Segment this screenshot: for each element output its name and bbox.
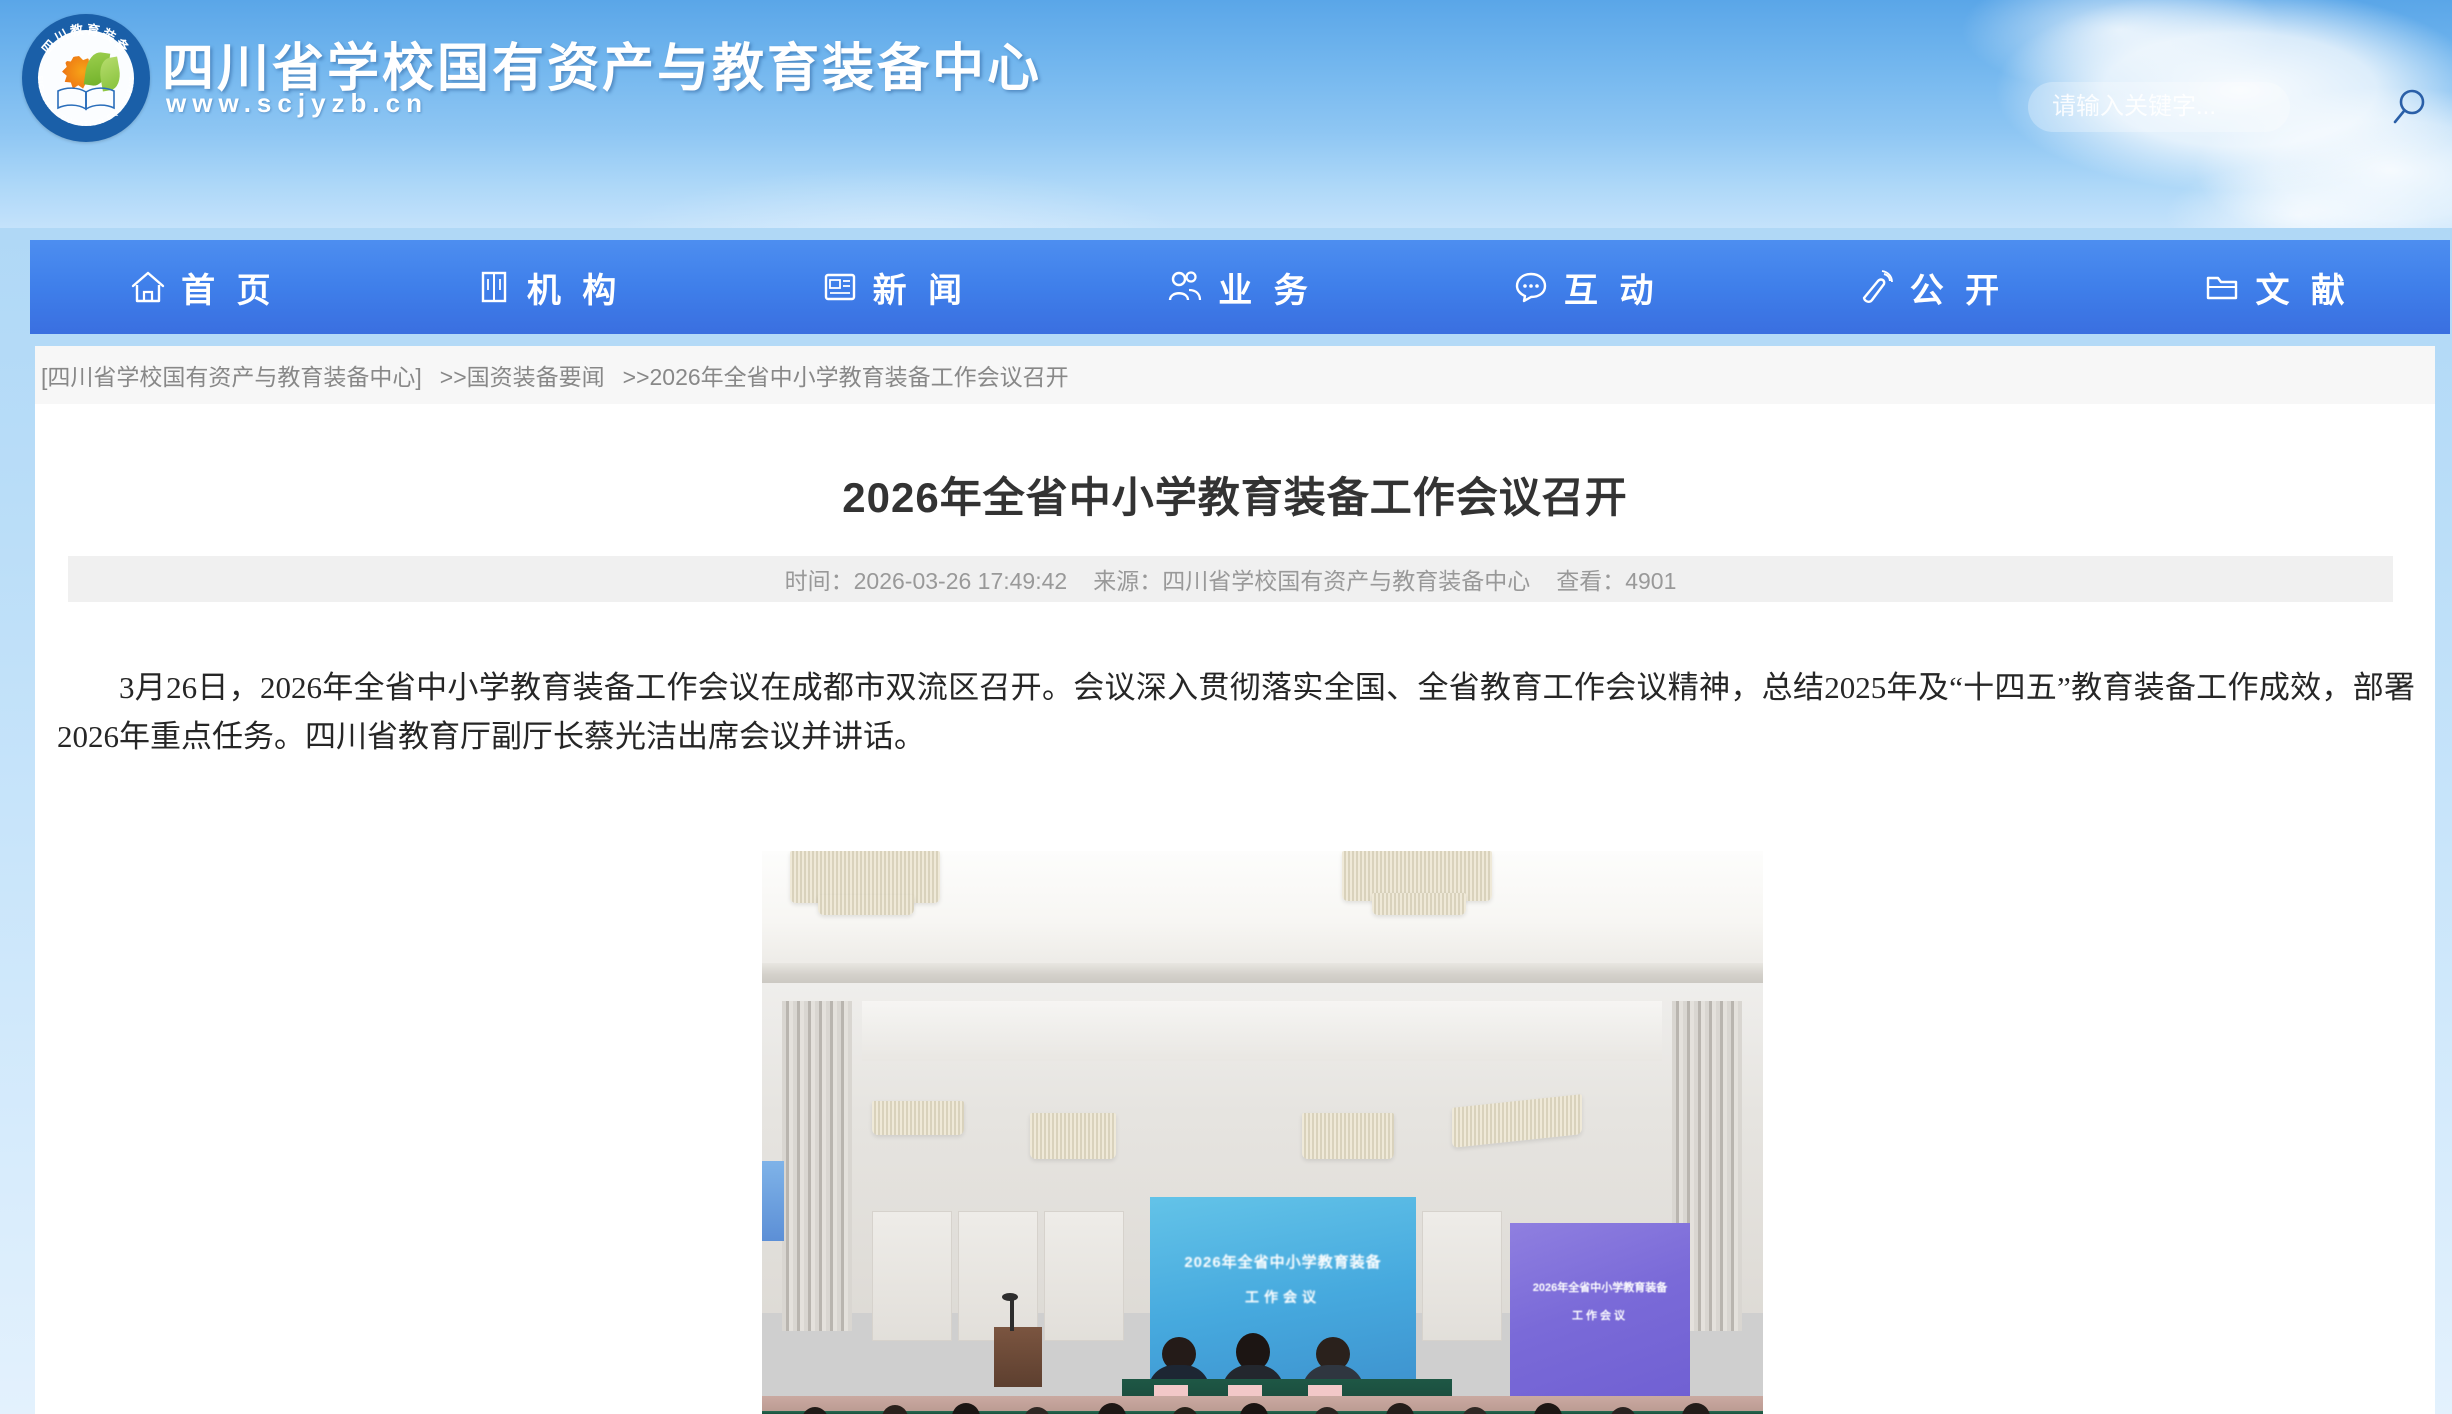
- meta-source-value: 四川省学校国有资产与教育装备中心: [1162, 568, 1530, 594]
- building-icon: [475, 268, 513, 306]
- logo-arc-text: 四川教育装备 SICHUAN EDUCATION EQUIPMENT: [22, 14, 150, 142]
- stage-banner-line1: 2026年全省中小学教育装备: [1514, 1279, 1686, 1295]
- stage-screen-line2: 工作会议: [1160, 1287, 1406, 1307]
- breadcrumb-section[interactable]: >>国资装备要闻: [440, 358, 605, 392]
- chandelier-icon: [818, 895, 914, 915]
- chat-icon: [1512, 268, 1550, 306]
- nav-item-home[interactable]: 首 页: [30, 240, 376, 334]
- wall-panel: [1422, 1211, 1502, 1341]
- stage-banner-line2: 工作会议: [1514, 1307, 1686, 1323]
- nav-label: 文 献: [2255, 263, 2350, 312]
- nav-item-organization[interactable]: 机 构: [376, 240, 722, 334]
- nav-item-interaction[interactable]: 互 动: [1413, 240, 1759, 334]
- search-input[interactable]: [2052, 82, 2352, 132]
- meta-time-label: 时间：: [785, 568, 854, 594]
- breadcrumb: [四川省学校国有资产与教育装备中心] >>国资装备要闻 >>2026年全省中小学…: [35, 346, 2435, 404]
- nav-label: 新 闻: [873, 263, 968, 312]
- content-card: [四川省学校国有资产与教育装备中心] >>国资装备要闻 >>2026年全省中小学…: [35, 346, 2435, 1414]
- users-icon: [1166, 268, 1204, 306]
- site-header: 四川教育装备 SICHUAN EDUCATION EQUIPMENT 四川省学校…: [0, 0, 2452, 228]
- meta-views: 查看：4901: [1556, 562, 1676, 596]
- breadcrumb-root[interactable]: [四川省学校国有资产与教育装备中心]: [41, 358, 422, 392]
- nav-label: 机 构: [527, 263, 622, 312]
- conference-photo: 2026年全省中小学教育装备 工作会议 2026年全省中小学教育装备 工作会议: [762, 851, 1763, 1414]
- search-icon: [2392, 84, 2438, 130]
- home-icon: [129, 268, 167, 306]
- meta-time: 时间：2026-03-26 17:49:42: [785, 562, 1068, 596]
- wall-panel: [1044, 1211, 1124, 1341]
- wall-panel: [958, 1211, 1038, 1341]
- wall-panel: [872, 1211, 952, 1341]
- meta-views-label: 查看：: [1556, 568, 1625, 594]
- photo-ceiling-band: [762, 963, 1763, 985]
- chandelier-icon: [872, 1101, 964, 1135]
- nav-label: 互 动: [1564, 263, 1659, 312]
- meta-views-value: 4901: [1625, 568, 1676, 594]
- search-button[interactable]: [2392, 84, 2438, 130]
- meta-time-value: 2026-03-26 17:49:42: [854, 568, 1068, 594]
- photo-wall-upper: [862, 1001, 1662, 1061]
- svg-text:SICHUAN EDUCATION EQUIPMENT: SICHUAN EDUCATION EQUIPMENT: [36, 75, 136, 128]
- main-nav[interactable]: 首 页 机 构 新 闻: [30, 240, 2450, 334]
- meta-source: 来源：四川省学校国有资产与教育装备中心: [1093, 562, 1530, 596]
- breadcrumb-current: >>2026年全省中小学教育装备工作会议召开: [623, 358, 1069, 392]
- chandelier-icon: [1302, 1113, 1394, 1159]
- folder-icon: [2203, 268, 2241, 306]
- page-title: 2026年全省中小学教育装备工作会议召开: [35, 464, 2435, 525]
- chandelier-icon: [1030, 1113, 1116, 1159]
- podium-mic: [1002, 1293, 1018, 1301]
- site-logo[interactable]: 四川教育装备 SICHUAN EDUCATION EQUIPMENT: [22, 14, 150, 142]
- nav-item-business[interactable]: 业 务: [1067, 240, 1413, 334]
- megaphone-icon: [1858, 268, 1896, 306]
- stage-screen-line1: 2026年全省中小学教育装备: [1160, 1251, 1406, 1272]
- podium-mic: [1010, 1299, 1014, 1331]
- nav-label: 首 页: [181, 263, 276, 312]
- article-paragraph: 3月26日，2026年全省中小学教育装备工作会议在成都市双流区召开。会议深入贯彻…: [57, 664, 2415, 762]
- photo-column-left: [782, 1001, 852, 1331]
- nav-item-documents[interactable]: 文 献: [2104, 240, 2450, 334]
- site-url: www.scjyzb.cn: [166, 88, 428, 119]
- podium: [994, 1327, 1042, 1387]
- svg-text:四川教育装备: 四川教育装备: [39, 22, 133, 57]
- page-root: 四川教育装备 SICHUAN EDUCATION EQUIPMENT 四川省学校…: [0, 0, 2452, 1414]
- nav-item-news[interactable]: 新 闻: [721, 240, 1067, 334]
- nav-label: 业 务: [1218, 263, 1313, 312]
- chandelier-icon: [1372, 893, 1466, 915]
- meta-source-label: 来源：: [1093, 568, 1162, 594]
- article-meta: 时间：2026-03-26 17:49:42 来源：四川省学校国有资产与教育装备…: [68, 556, 2393, 602]
- newspaper-icon: [821, 268, 859, 306]
- nav-item-disclosure[interactable]: 公 开: [1759, 240, 2105, 334]
- nav-label: 公 开: [1910, 263, 2005, 312]
- photo-side-screen: [762, 1161, 784, 1241]
